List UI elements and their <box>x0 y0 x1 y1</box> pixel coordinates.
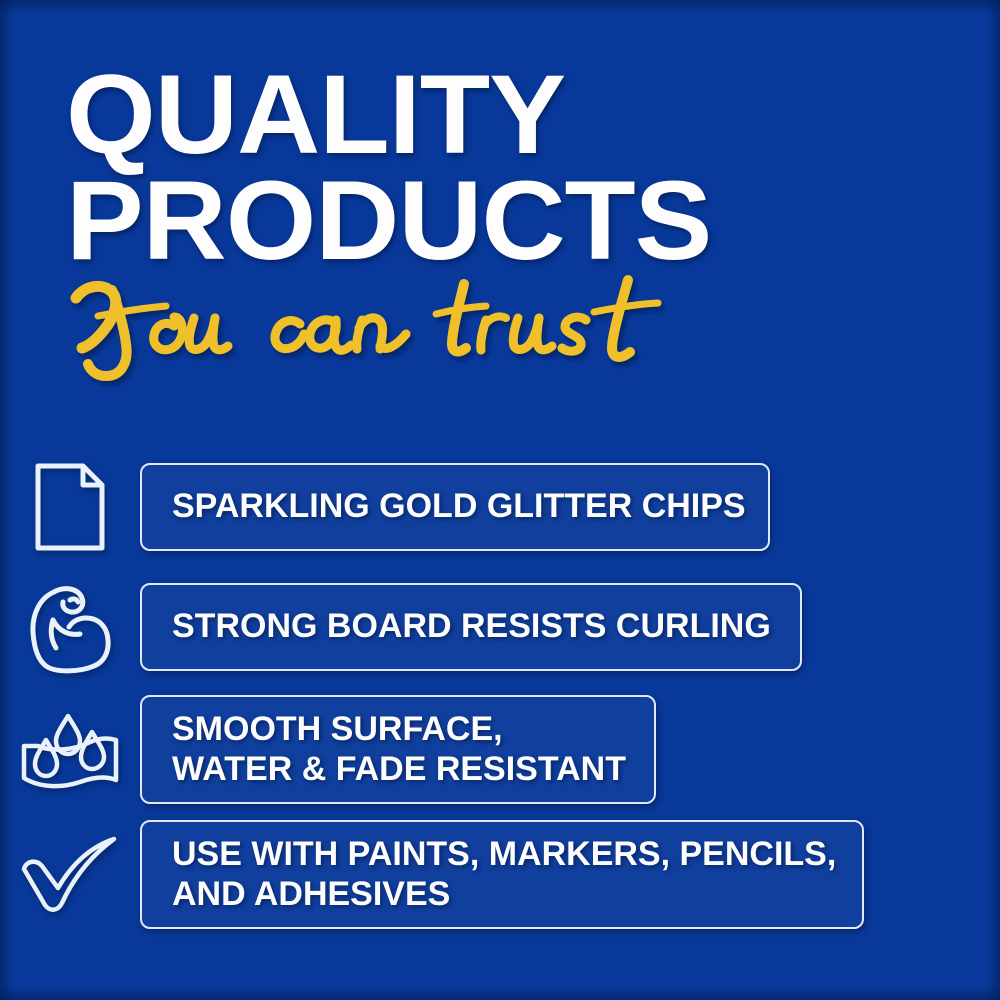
feature-box: SMOOTH SURFACE, WATER & FADE RESISTANT <box>140 695 656 804</box>
feature-text-line: SPARKLING GOLD GLITTER CHIPS <box>172 486 742 526</box>
product-feature-poster: QUALITY PRODUCTS <box>0 0 1000 1000</box>
headline-script-line <box>62 272 682 380</box>
checkmark-icon <box>0 823 140 927</box>
feature-list: SPARKLING GOLD GLITTER CHIPS <box>0 455 1000 945</box>
feature-box: STRONG BOARD RESISTS CURLING <box>140 583 802 671</box>
feature-box: SPARKLING GOLD GLITTER CHIPS <box>140 463 770 551</box>
headline-line-1: QUALITY <box>66 62 565 167</box>
feature-row: STRONG BOARD RESISTS CURLING <box>0 575 1000 679</box>
feature-box: USE WITH PAINTS, MARKERS, PENCILS, AND A… <box>140 820 864 929</box>
feature-text-line: AND ADHESIVES <box>172 874 836 914</box>
feature-row: SPARKLING GOLD GLITTER CHIPS <box>0 455 1000 559</box>
flexed-bicep-icon <box>0 575 140 679</box>
water-droplets-icon <box>0 698 140 802</box>
feature-row: SMOOTH SURFACE, WATER & FADE RESISTANT <box>0 695 1000 804</box>
feature-row: USE WITH PAINTS, MARKERS, PENCILS, AND A… <box>0 820 1000 929</box>
feature-text-line: USE WITH PAINTS, MARKERS, PENCILS, <box>172 834 836 874</box>
feature-text-line: STRONG BOARD RESISTS CURLING <box>172 606 774 646</box>
headline-line-2: PRODUCTS <box>66 168 711 273</box>
feature-text-line: WATER & FADE RESISTANT <box>172 749 628 789</box>
feature-text-line: SMOOTH SURFACE, <box>172 709 628 749</box>
document-icon <box>0 455 140 559</box>
